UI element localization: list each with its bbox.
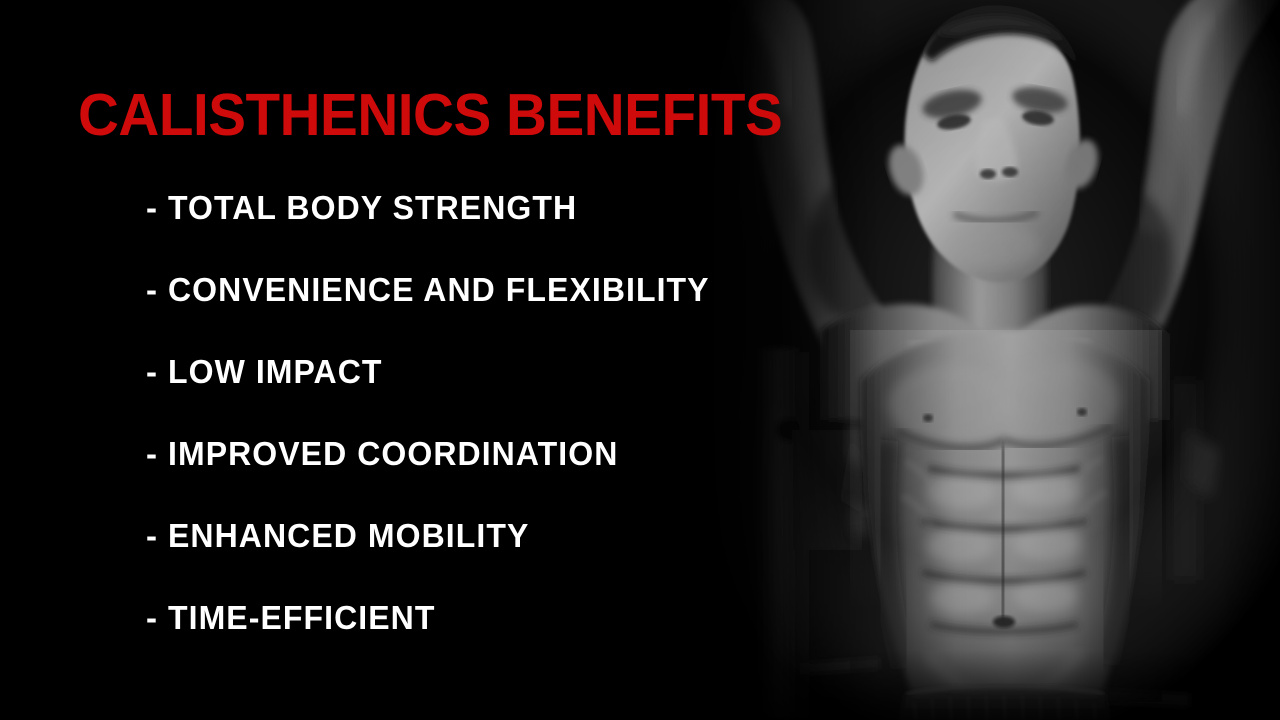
benefits-list: - TOTAL BODY STRENGTH - CONVENIENCE AND … xyxy=(146,189,846,681)
slide-root: CALISTHENICS BENEFITS - TOTAL BODY STREN… xyxy=(0,0,1280,720)
list-item: - TIME-EFFICIENT xyxy=(146,599,846,681)
list-item: - TOTAL BODY STRENGTH xyxy=(146,189,846,271)
bullet-dash-icon: - xyxy=(146,271,158,309)
bullet-dash-icon: - xyxy=(146,353,158,391)
bullet-dash-icon: - xyxy=(146,189,158,227)
bullet-dash-icon: - xyxy=(146,517,158,555)
list-item: - LOW IMPACT xyxy=(146,353,846,435)
list-item: - ENHANCED MOBILITY xyxy=(146,517,846,599)
list-item-label: TIME-EFFICIENT xyxy=(168,599,435,637)
list-item-label: CONVENIENCE AND FLEXIBILITY xyxy=(168,271,710,309)
list-item-label: LOW IMPACT xyxy=(168,353,383,391)
bullet-dash-icon: - xyxy=(146,435,158,473)
text-content: CALISTHENICS BENEFITS - TOTAL BODY STREN… xyxy=(0,0,860,720)
list-item-label: ENHANCED MOBILITY xyxy=(168,517,529,555)
list-item: - CONVENIENCE AND FLEXIBILITY xyxy=(146,271,846,353)
page-title: CALISTHENICS BENEFITS xyxy=(78,86,782,145)
list-item-label: TOTAL BODY STRENGTH xyxy=(168,189,577,227)
list-item: - IMPROVED COORDINATION xyxy=(146,435,846,517)
bullet-dash-icon: - xyxy=(146,599,158,637)
list-item-label: IMPROVED COORDINATION xyxy=(168,435,618,473)
